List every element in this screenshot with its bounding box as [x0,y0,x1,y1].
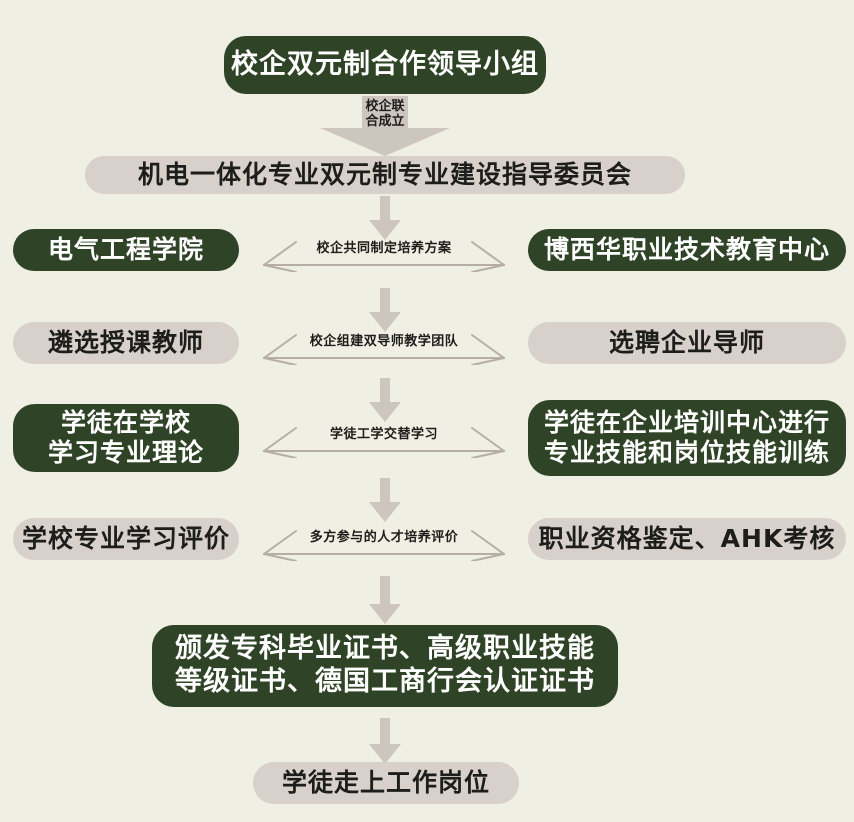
node-leading-group[interactable]: 校企双元制合作领导小组 [224,36,546,94]
block-arrow-establishment: 校企联 合成立 [320,96,450,156]
node-school-learning-evaluation[interactable]: 学校专业学习评价 [13,518,239,560]
down-arrow-6 [364,718,406,764]
double-arrow-work-study-alternation: 学徒工学交替学习 [258,422,510,458]
node-vocational-qualification-ahk[interactable]: 职业资格鉴定、AHK考核 [528,518,846,560]
down-arrow-4 [364,478,406,522]
down-arrow-1 [364,196,406,240]
double-arrow-multiparty-evaluation: 多方参与的人才培养评价 [258,525,510,561]
down-arrow-3 [364,378,406,422]
node-employment[interactable]: 学徒走上工作岗位 [253,762,519,804]
node-bsh-vocational-center[interactable]: 博西华职业技术教育中心 [528,229,846,271]
double-arrow-training-plan: 校企共同制定培养方案 [258,236,510,272]
down-arrow-5 [364,576,406,624]
double-arrow-dual-teacher-team: 校企组建双导师教学团队 [258,329,510,365]
node-select-school-teachers[interactable]: 遴选授课教师 [13,322,239,364]
flowchart-canvas: 校企双元制合作领导小组 校企联 合成立 机电一体化专业双元制专业建设指导委员会 … [0,0,854,822]
node-certificates[interactable]: 颁发专科毕业证书、高级职业技能 等级证书、德国工商行会认证证书 [152,625,618,707]
down-arrow-2 [364,288,406,332]
node-steering-committee[interactable]: 机电一体化专业双元制专业建设指导委员会 [85,156,685,194]
node-electrical-engineering-college[interactable]: 电气工程学院 [13,229,239,271]
node-apprentice-school-theory[interactable]: 学徒在学校 学习专业理论 [13,404,239,472]
node-apprentice-enterprise-training[interactable]: 学徒在企业培训中心进行 专业技能和岗位技能训练 [528,400,846,476]
node-recruit-enterprise-mentors[interactable]: 选聘企业导师 [528,322,846,364]
